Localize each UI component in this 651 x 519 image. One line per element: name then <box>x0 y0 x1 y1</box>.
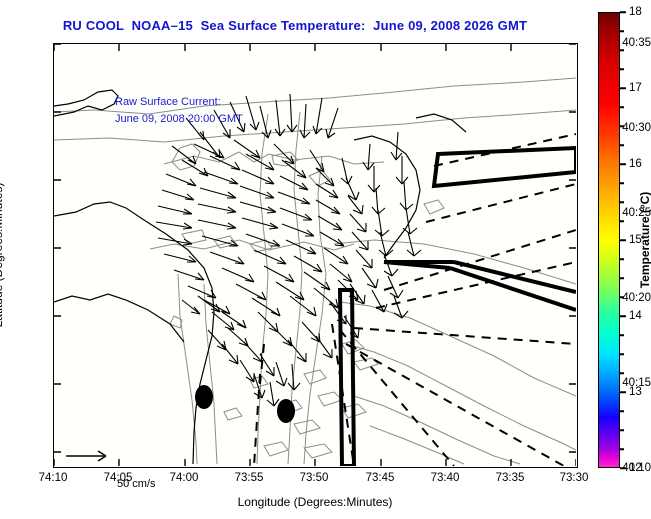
x-tick-label: 73:45 <box>366 472 395 484</box>
x-tick-label: 73:30 <box>560 472 589 484</box>
colorbar-title: Temperature (°C) <box>638 192 651 289</box>
x-tick-label: 73:35 <box>496 472 525 484</box>
scalebar-arrow <box>66 451 106 461</box>
colorbar-tick-label: 17 <box>629 82 642 94</box>
annotation-line-1: Raw Surface Current: <box>115 96 221 108</box>
sst-map-figure: RU COOL NOAA–15 Sea Surface Temperature:… <box>0 0 651 519</box>
colorbar-tick-label: 13 <box>629 386 642 398</box>
colorbar-tick-label: 16 <box>629 158 642 170</box>
colorbar-tick-label: 12 <box>629 462 642 474</box>
colorbar-tick-label: 18 <box>629 6 642 18</box>
colorbar-tick-label: 14 <box>629 310 642 322</box>
x-tick-label: 74:00 <box>170 472 199 484</box>
annotation-line-2: June 09, 2008 20:00 GMT <box>115 113 243 125</box>
station-marker <box>277 399 295 423</box>
map-plot-area: Raw Surface Current: June 09, 2008 20:00… <box>53 43 578 468</box>
temperature-colorbar <box>598 12 620 468</box>
x-tick-label: 74:10 <box>39 472 68 484</box>
x-tick-label: 74:05 <box>104 472 133 484</box>
station-marker <box>195 385 213 409</box>
station-markers <box>195 385 295 423</box>
x-tick-label: 73:55 <box>235 472 264 484</box>
y-axis-title: Latitude (Degrees:Minutes) <box>0 183 5 328</box>
solid-transect-boxes <box>340 148 576 466</box>
current-vector-field <box>156 94 421 406</box>
figure-title: RU COOL NOAA–15 Sea Surface Temperature:… <box>0 18 590 33</box>
x-tick-label: 73:40 <box>431 472 460 484</box>
x-axis-title: Longitude (Degrees:Minutes) <box>238 495 393 509</box>
x-tick-label: 73:50 <box>300 472 329 484</box>
